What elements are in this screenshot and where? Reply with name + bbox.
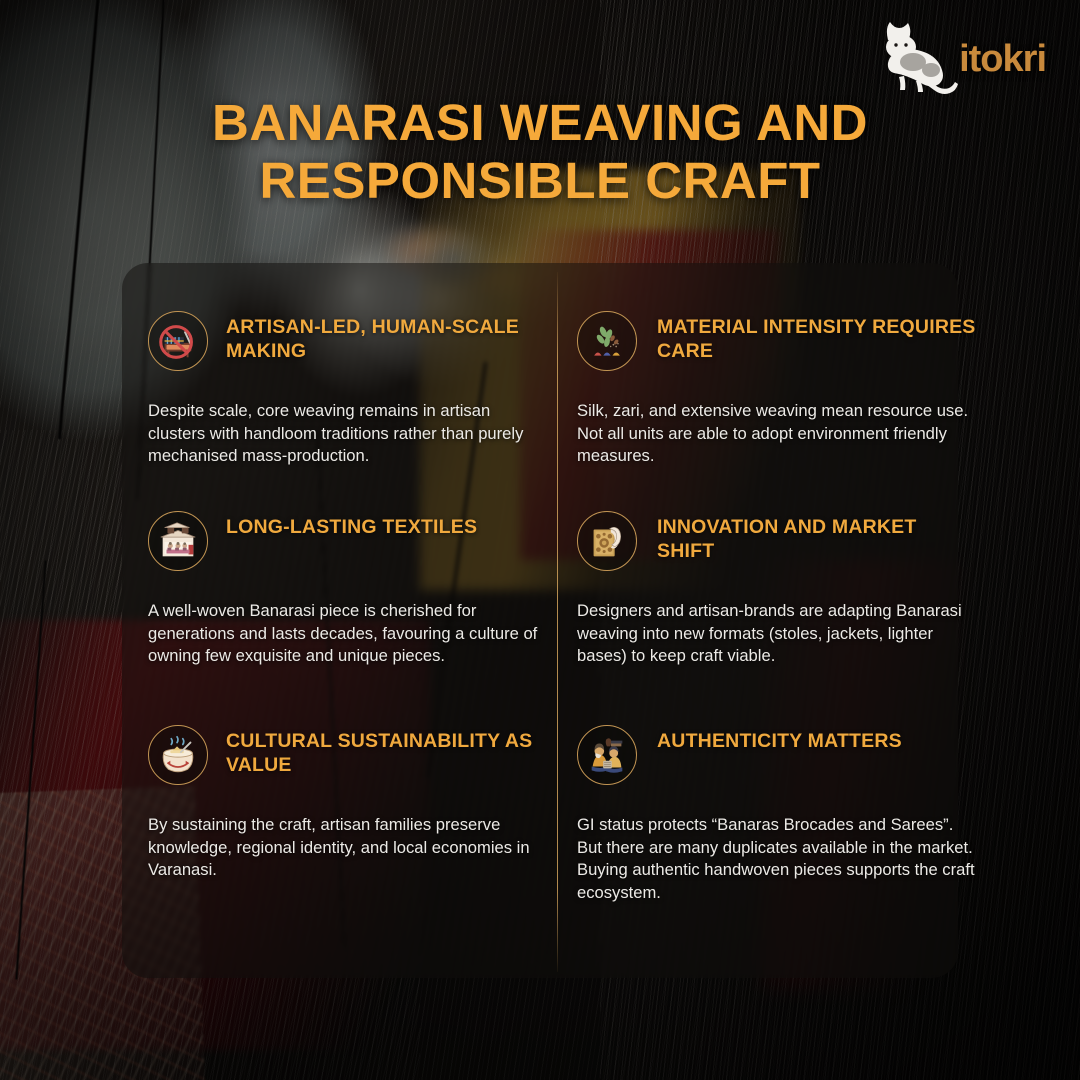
feature-card-long-lasting-textiles: LONG-LASTING TEXTILES A well-woven Banar… — [148, 511, 548, 668]
craft-shop-facade-icon — [148, 511, 208, 571]
card-body: Designers and artisan-brands are adaptin… — [577, 600, 977, 668]
hand-holding-brocade-icon — [577, 511, 637, 571]
feature-card-grid: ARTISAN-LED, HUMAN-SCALE MAKING Despite … — [122, 263, 958, 978]
page-title-line-1: BANARASI WEAVING AND — [212, 94, 868, 151]
card-title: CULTURAL SUSTAINABILITY AS VALUE — [226, 725, 548, 778]
feature-card-authenticity-matters: AUTHENTICITY MATTERS GI status protects … — [577, 725, 977, 904]
card-title: AUTHENTICITY MATTERS — [657, 725, 902, 754]
feature-card-artisan-led: ARTISAN-LED, HUMAN-SCALE MAKING Despite … — [148, 311, 548, 468]
two-seated-artisans-icon — [577, 725, 637, 785]
leaves-and-dye-powder-icon — [577, 311, 637, 371]
card-body: GI status protects “Banaras Brocades and… — [577, 814, 977, 904]
card-header: AUTHENTICITY MATTERS — [577, 725, 977, 785]
card-title: MATERIAL INTENSITY REQUIRES CARE — [657, 311, 977, 364]
no-power-loom-icon — [148, 311, 208, 371]
card-title: ARTISAN-LED, HUMAN-SCALE MAKING — [226, 311, 548, 364]
card-title: LONG-LASTING TEXTILES — [226, 511, 477, 540]
feature-card-innovation-market-shift: INNOVATION AND MARKET SHIFT Designers an… — [577, 511, 977, 668]
card-body: A well-woven Banarasi piece is cherished… — [148, 600, 544, 668]
card-header: INNOVATION AND MARKET SHIFT — [577, 511, 977, 571]
feature-card-cultural-sustainability: CULTURAL SUSTAINABILITY AS VALUE By sust… — [148, 725, 548, 882]
brand-logo[interactable]: itokri — [959, 40, 1046, 78]
card-body: Despite scale, core weaving remains in a… — [148, 400, 544, 468]
card-body: Silk, zari, and extensive weaving mean r… — [577, 400, 977, 468]
header: itokri BANARASI WEAVING AND RESPONSIBLE … — [0, 0, 1080, 250]
card-header: LONG-LASTING TEXTILES — [148, 511, 548, 571]
page-title-line-2: RESPONSIBLE CRAFT — [110, 152, 970, 210]
steaming-dye-pot-icon — [148, 725, 208, 785]
card-header: ARTISAN-LED, HUMAN-SCALE MAKING — [148, 311, 548, 371]
card-header: MATERIAL INTENSITY REQUIRES CARE — [577, 311, 977, 371]
card-title: INNOVATION AND MARKET SHIFT — [657, 511, 977, 564]
cat-logo-icon — [868, 14, 960, 94]
card-header: CULTURAL SUSTAINABILITY AS VALUE — [148, 725, 548, 785]
page-title: BANARASI WEAVING AND RESPONSIBLE CRAFT — [0, 94, 1080, 210]
feature-card-material-intensity: MATERIAL INTENSITY REQUIRES CARE Silk, z… — [577, 311, 977, 468]
brand-name: itokri — [959, 40, 1046, 78]
card-body: By sustaining the craft, artisan familie… — [148, 814, 544, 882]
